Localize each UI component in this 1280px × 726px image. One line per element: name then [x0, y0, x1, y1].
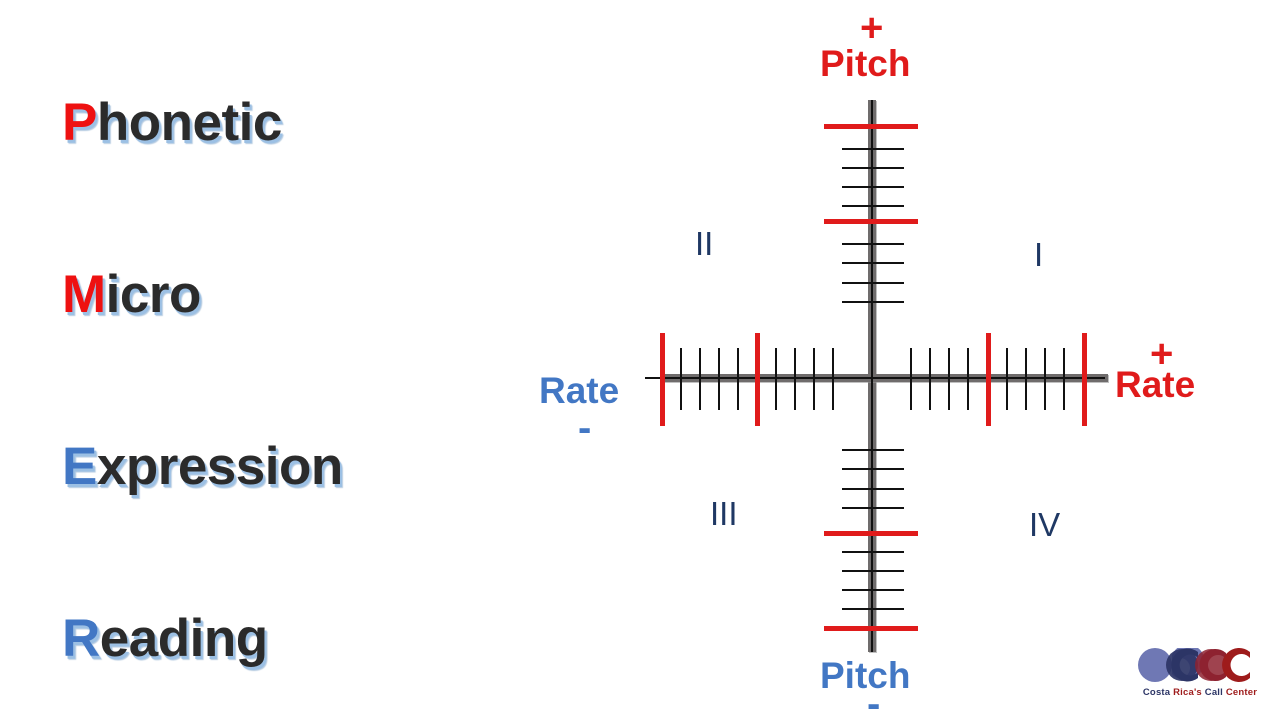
y-minor-tick-5: [842, 262, 904, 264]
y-minor-tick-3: [842, 205, 904, 207]
y-minor-tick-0: [842, 148, 904, 150]
y-minor-tick-6: [842, 282, 904, 284]
x-minor-tick-12: [1006, 348, 1008, 410]
x-minor-tick-7: [832, 348, 834, 410]
quadrant-label-ii: II: [695, 227, 713, 260]
acronym-initial-r: R: [62, 609, 100, 668]
y-minor-tick-2: [842, 186, 904, 188]
x-major-tick-1: [755, 333, 760, 426]
x-major-tick-0: [660, 333, 665, 426]
y-major-tick-2: [824, 531, 918, 536]
logo-tagline: Costa Rica's Call Center: [1136, 687, 1264, 698]
horizontal-axis-line: [645, 377, 1105, 379]
pitch-negative-sign: -: [867, 684, 880, 724]
x-minor-tick-3: [737, 348, 739, 410]
y-minor-tick-9: [842, 468, 904, 470]
logo-word-ricas: Rica's: [1173, 687, 1205, 698]
x-major-tick-3: [1082, 333, 1087, 426]
y-major-tick-1: [824, 219, 918, 224]
logo-word-call: Call: [1205, 687, 1226, 698]
y-major-tick-3: [824, 626, 918, 631]
x-minor-tick-15: [1063, 348, 1065, 410]
acronym-word-list: Phonetic Micro Expression Reading: [0, 0, 520, 720]
quadrant-label-iv: IV: [1029, 508, 1060, 541]
y-minor-tick-4: [842, 243, 904, 245]
x-minor-tick-0: [680, 348, 682, 410]
rate-negative-sign: -: [578, 408, 591, 448]
y-minor-tick-10: [842, 488, 904, 490]
acronym-initial-m: M: [62, 265, 106, 324]
y-minor-tick-12: [842, 551, 904, 553]
y-minor-tick-8: [842, 449, 904, 451]
rate-negative-label: Rate: [539, 372, 619, 409]
y-major-tick-0: [824, 124, 918, 129]
quadrant-label-iii: III: [710, 497, 738, 530]
y-minor-tick-14: [842, 589, 904, 591]
acronym-rest-phonetic: honetic: [97, 93, 282, 152]
pitch-negative-label: Pitch: [820, 657, 910, 694]
y-minor-tick-15: [842, 608, 904, 610]
x-minor-tick-6: [813, 348, 815, 410]
x-minor-tick-9: [929, 348, 931, 410]
logo-c-marks-icon: [1136, 648, 1264, 688]
x-major-tick-2: [986, 333, 991, 426]
x-minor-tick-4: [775, 348, 777, 410]
x-minor-tick-5: [794, 348, 796, 410]
x-minor-tick-1: [699, 348, 701, 410]
costa-rica-call-center-logo: Costa Rica's Call Center: [1136, 648, 1264, 710]
y-minor-tick-1: [842, 167, 904, 169]
x-minor-tick-10: [948, 348, 950, 410]
y-minor-tick-13: [842, 570, 904, 572]
logo-word-costa: Costa: [1143, 687, 1173, 698]
x-minor-tick-13: [1025, 348, 1027, 410]
rate-positive-label: Rate: [1115, 366, 1195, 403]
acronym-word-micro: Micro: [62, 268, 201, 321]
x-minor-tick-8: [910, 348, 912, 410]
logo-word-center: Center: [1226, 687, 1257, 698]
acronym-rest-expression: xpression: [97, 437, 343, 496]
acronym-word-expression: Expression: [62, 440, 343, 493]
acronym-initial-e: E: [62, 437, 97, 496]
acronym-word-reading: Reading: [62, 612, 268, 665]
acronym-rest-micro: icro: [106, 265, 201, 324]
y-minor-tick-7: [842, 301, 904, 303]
quadrant-label-i: I: [1034, 238, 1043, 271]
acronym-word-phonetic: Phonetic: [62, 96, 282, 149]
x-minor-tick-2: [718, 348, 720, 410]
pitch-rate-quadrant-chart: + Pitch Pitch - Rate - + Rate I II III I…: [520, 0, 1280, 720]
x-minor-tick-14: [1044, 348, 1046, 410]
acronym-initial-p: P: [62, 93, 97, 152]
y-minor-tick-11: [842, 507, 904, 509]
pitch-positive-label: Pitch: [820, 45, 910, 82]
x-minor-tick-11: [967, 348, 969, 410]
pitch-positive-sign: +: [860, 8, 883, 48]
acronym-rest-reading: eading: [100, 609, 268, 668]
